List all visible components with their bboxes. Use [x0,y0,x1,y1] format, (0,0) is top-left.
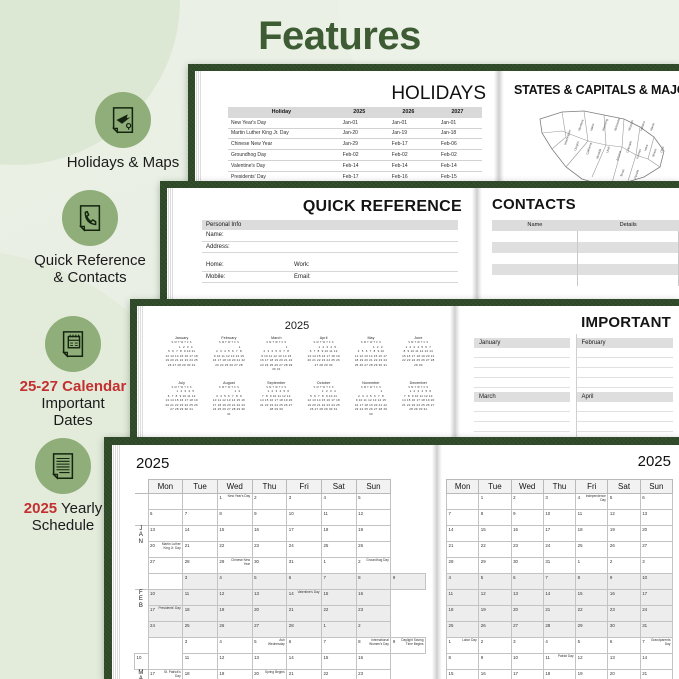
day-number: 6 [610,639,612,644]
schedule-day-cell[interactable]: 12 [576,654,608,670]
schedule-day-cell[interactable]: 18 [576,526,608,542]
important-dates-write-line[interactable] [577,358,674,368]
schedule-day-cell[interactable]: 19 [608,526,640,542]
important-dates-month-label: April [577,392,674,402]
day-number: 20 [150,543,155,548]
day-number: 10 [289,511,294,516]
schedule-day-cell[interactable]: 5 [608,494,640,510]
schedule-day-cell[interactable]: 15 [447,670,479,679]
schedule-day-cell[interactable]: 20 [640,526,672,542]
schedule-day-cell[interactable]: 4 [217,574,252,590]
schedule-day-cell[interactable]: 7 [321,574,356,590]
mini-month-calendar: OctoberS M T W T F S 1 2 3 45 6 7 8 9 10… [302,381,345,417]
schedule-day-cell[interactable]: 8 [479,510,511,526]
schedule-day-cell[interactable]: 31 [640,622,672,638]
mini-week-row: 12 13 14 15 16 17 18 [302,398,345,403]
mini-month-calendar: SeptemberS M T W T F S 1 2 3 4 5 67 8 9 … [255,381,298,417]
schedule-day-cell[interactable] [447,494,479,510]
schedule-day-cell[interactable]: 14Valentine's Day [287,590,322,606]
column-header: Holiday [228,107,335,118]
svg-text:Florida: Florida [633,169,640,179]
table-cell: Valentine's Day [228,160,335,171]
day-number: 22 [219,543,224,548]
schedule-day-cell[interactable]: 20Spring Begins [252,670,287,679]
important-dates-month-label: February [577,338,674,348]
day-number: 17 [150,671,155,676]
schedule-day-cell[interactable]: 9Daylight Saving Time Begins [391,638,426,654]
weekday-header: Wed [217,480,252,494]
schedule-day-cell[interactable]: 29 [479,558,511,574]
form-field-row[interactable]: Home:Work: [202,260,458,272]
day-number: 25 [323,543,328,548]
schedule-day-cell[interactable]: 10 [640,574,672,590]
table-cell[interactable] [492,253,578,264]
important-dates-write-line[interactable] [577,412,674,422]
schedule-day-cell[interactable]: 1New Year's Day [217,494,252,510]
schedule-day-cell[interactable]: 14 [543,590,575,606]
day-number: 24 [150,623,155,628]
mini-month-name: October [302,381,345,385]
schedule-week-row: 272829Chinese New Year303112Groundhog Da… [135,558,426,574]
schedule-day-cell[interactable]: 15 [321,654,356,670]
important-dates-write-line[interactable] [474,422,570,432]
column-header: Details [578,220,679,231]
schedule-week-row: 25262728293031 [447,622,673,638]
schedule-day-cell[interactable]: 10 [135,654,149,670]
schedule-day-cell[interactable]: 17St. Patrick's Day [148,670,183,679]
mini-month-calendar: NovemberS M T W T F S 12 3 4 5 6 7 89 10… [349,381,392,417]
important-dates-write-line[interactable] [577,422,674,432]
day-number: 14 [545,591,550,596]
schedule-day-cell[interactable]: 12 [608,510,640,526]
table-row[interactable] [492,242,679,253]
schedule-day-cell[interactable]: 25 [576,542,608,558]
table-row[interactable] [492,275,679,286]
important-dates-write-line[interactable] [474,348,570,358]
schedule-day-cell[interactable]: 26 [608,542,640,558]
schedule-day-cell[interactable]: 6 [608,638,640,654]
important-dates-write-line[interactable] [474,412,570,422]
schedule-day-cell[interactable]: 6 [511,574,543,590]
schedule-day-cell[interactable]: 13 [148,526,183,542]
svg-text:Montana: Montana [577,119,585,132]
form-field-row[interactable]: Address: [202,242,458,254]
table-row[interactable] [492,231,679,242]
schedule-day-cell[interactable]: 3 [543,494,575,510]
schedule-day-cell[interactable]: 17 [511,670,543,679]
schedule-day-cell[interactable]: 18 [447,606,479,622]
field-label: Name: [206,232,294,238]
schedule-day-cell[interactable]: 28 [183,558,218,574]
schedule-day-cell[interactable]: 10 [543,510,575,526]
table-cell[interactable] [578,264,679,275]
schedule-day-cell[interactable]: 17 [543,526,575,542]
field-label: Home: [206,262,294,268]
schedule-day-cell[interactable]: 19 [217,606,252,622]
schedule-day-cell[interactable]: 4 [447,574,479,590]
contacts-table: NameDetails [492,220,679,286]
schedule-day-cell[interactable]: 17 [287,526,322,542]
column-header: 2025 [335,107,384,118]
schedule-day-cell[interactable]: 13 [640,510,672,526]
schedule-day-cell[interactable]: 2 [252,494,287,510]
schedule-day-cell[interactable]: 27 [148,558,183,574]
day-event-label: Patriot Day [552,655,573,659]
schedule-day-cell[interactable]: 9 [511,510,543,526]
day-number: 2 [610,559,612,564]
important-dates-write-line[interactable] [474,378,570,388]
schedule-day-cell[interactable]: 8 [356,574,391,590]
day-event-label: Daylight Saving Time Begins [401,639,424,646]
schedule-day-cell[interactable]: 3 [287,494,322,510]
day-number: 27 [254,623,259,628]
page-heading-quick-reference: QUICK REFERENCE [303,198,462,216]
schedule-day-cell[interactable]: 5 [576,638,608,654]
table-cell: Jan-18 [433,128,482,139]
important-dates-write-line[interactable] [577,378,674,388]
schedule-day-cell[interactable]: 27 [640,542,672,558]
schedule-day-cell[interactable]: 14 [640,654,672,670]
table-row[interactable] [492,253,679,264]
table-cell[interactable] [492,242,578,253]
schedule-day-cell[interactable]: 27 [252,622,287,638]
schedule-week-row: MAR17St. Patrick's Day181920Spring Begin… [135,670,426,679]
schedule-day-cell[interactable]: 20Martin Luther King Jr. Day [148,542,183,558]
schedule-day-cell[interactable] [148,494,183,510]
schedule-day-cell[interactable]: 16 [511,526,543,542]
schedule-day-cell[interactable]: 28 [447,558,479,574]
schedule-day-cell[interactable]: 19 [479,606,511,622]
schedule-day-cell[interactable]: 11Patriot Day [543,654,575,670]
schedule-day-cell[interactable]: 6 [640,494,672,510]
schedule-day-cell[interactable]: 3 [183,638,218,654]
schedule-day-cell[interactable]: 10 [287,510,322,526]
schedule-day-cell[interactable]: 23 [252,542,287,558]
day-number: 9 [393,575,395,580]
schedule-day-cell[interactable]: 11 [321,510,356,526]
important-dates-write-line[interactable] [577,402,674,412]
table-cell: Feb-02 [335,150,384,161]
schedule-day-cell[interactable]: 20 [511,606,543,622]
schedule-day-cell[interactable]: 7 [543,574,575,590]
schedule-day-cell[interactable]: 22 [479,542,511,558]
mini-week-row: 13 14 15 16 17 18 19 [160,398,203,403]
schedule-day-cell[interactable]: 23 [356,606,391,622]
schedule-day-cell[interactable]: 4Independence Day [576,494,608,510]
schedule-day-cell[interactable]: 13 [608,654,640,670]
day-number: 20 [610,671,615,676]
schedule-day-cell[interactable]: 13 [252,654,287,670]
day-number: 13 [254,655,259,660]
schedule-day-cell[interactable]: 28 [543,622,575,638]
day-number: 23 [358,607,363,612]
schedule-day-cell[interactable]: 10 [148,590,183,606]
schedule-day-cell[interactable]: 5 [479,574,511,590]
day-number: 10 [642,575,647,580]
day-number: 4 [219,575,221,580]
schedule-day-cell[interactable]: 5 [252,574,287,590]
schedule-day-cell[interactable]: 15 [217,526,252,542]
schedule-day-cell[interactable]: 2 [608,558,640,574]
mini-week-row: 19 20 21 22 23 24 25 [160,358,203,363]
schedule-day-cell[interactable]: 5Ash Wednesday [252,638,287,654]
mini-week-row: 26 27 28 29 30 31 [302,407,345,412]
schedule-day-cell[interactable]: 14 [183,526,218,542]
schedule-day-cell[interactable]: 7Grandparents Day [640,638,672,654]
schedule-day-cell[interactable]: 1 [321,622,356,638]
schedule-day-cell[interactable]: 19 [576,670,608,679]
day-number: 6 [289,639,291,644]
schedule-day-cell[interactable]: 2 [511,494,543,510]
important-dates-column: JanuaryMarch [474,334,577,437]
day-number: 27 [513,623,518,628]
schedule-day-cell[interactable]: 17Presidents' Day [148,606,183,622]
table-header-row: Holiday202520262027 [228,107,482,118]
schedule-day-cell[interactable]: 31 [543,558,575,574]
schedule-day-cell[interactable]: 26 [356,542,391,558]
schedule-day-cell[interactable]: 29Chinese New Year [217,558,252,574]
day-number: 4 [449,575,451,580]
schedule-day-cell[interactable]: 16 [252,526,287,542]
table-row: Chinese New YearJan-29Feb-17Feb-06 [228,139,482,150]
day-number: 29 [219,559,224,564]
schedule-day-cell[interactable]: 30 [608,622,640,638]
important-dates-write-line[interactable] [474,358,570,368]
schedule-day-cell[interactable]: 21 [183,542,218,558]
schedule-day-cell[interactable]: 3 [511,638,543,654]
feature-label: 2025 Yearly Schedule [0,501,148,535]
weekday-header: Mon [447,480,479,494]
schedule-day-cell[interactable]: 12 [217,654,252,670]
schedule-day-cell[interactable]: 15 [576,590,608,606]
schedule-day-cell[interactable]: 26 [479,622,511,638]
schedule-day-cell[interactable]: 13 [511,590,543,606]
schedule-day-cell[interactable]: 7 [447,510,479,526]
day-number: 23 [358,671,363,676]
important-dates-write-line[interactable] [474,402,570,412]
schedule-day-cell[interactable]: 4 [543,638,575,654]
mini-month-calendar: FebruaryS M T W T F S 12 3 4 5 6 7 89 10… [207,336,250,372]
schedule-day-cell[interactable]: 14 [287,654,322,670]
schedule-day-cell[interactable]: 16 [356,590,391,606]
schedule-day-cell[interactable]: 16 [608,590,640,606]
schedule-day-cell[interactable]: 11 [183,590,218,606]
day-number: 15 [578,591,583,596]
schedule-day-cell[interactable]: 21 [447,542,479,558]
mini-week-row: 24 25 26 27 28 29 30 [207,407,250,412]
schedule-day-cell[interactable]: 30 [252,558,287,574]
important-dates-write-line[interactable] [577,368,674,378]
schedule-day-cell[interactable]: 14 [447,526,479,542]
schedule-day-cell[interactable]: 21 [543,606,575,622]
day-number: 9 [513,511,515,516]
schedule-day-cell[interactable]: 17 [640,590,672,606]
weekday-header: Mon [148,480,183,494]
schedule-day-cell[interactable]: 6 [287,574,322,590]
schedule-day-cell[interactable]: 22 [576,606,608,622]
day-number: 11 [449,591,454,596]
schedule-day-cell[interactable]: 1Labor Day [447,638,479,654]
schedule-day-cell[interactable]: 16 [356,654,391,670]
us-map-outline-icon: Washington Oregon California Nevada Utah… [532,97,679,182]
schedule-day-cell[interactable]: 18 [543,670,575,679]
day-number: 19 [219,671,224,676]
svg-text:Illinois: Illinois [651,148,658,158]
schedule-day-cell[interactable]: 21 [287,670,322,679]
table-header-row: MonTueWedThuFriSatSun [135,480,426,494]
schedule-day-cell[interactable]: 21 [287,606,322,622]
table-cell[interactable] [578,253,679,264]
day-number: 28 [449,559,454,564]
schedule-day-cell[interactable]: 3 [640,558,672,574]
day-number: 18 [185,671,190,676]
schedule-day-cell[interactable]: 1 [479,494,511,510]
schedule-day-cell[interactable]: 20 [608,670,640,679]
schedule-day-cell[interactable]: 23 [608,606,640,622]
form-field-row[interactable]: Name: [202,230,458,242]
schedule-day-cell[interactable]: 11 [183,654,218,670]
day-number: 7 [449,511,451,516]
year-heading-right: 2025 [638,453,671,470]
schedule-day-cell[interactable]: 12 [217,590,252,606]
schedule-day-cell[interactable]: 24 [543,542,575,558]
schedule-day-cell[interactable]: 8International Women's Day [356,638,391,654]
schedule-day-cell[interactable]: 9 [608,574,640,590]
schedule-day-cell[interactable]: 4 [321,494,356,510]
schedule-day-cell[interactable]: 1 [321,558,356,574]
schedule-day-cell[interactable]: 28 [287,622,322,638]
field-label: Email: [294,274,311,280]
schedule-day-cell[interactable]: 19 [217,670,252,679]
form-field-row[interactable]: Mobile:Email: [202,272,458,284]
schedule-day-cell[interactable]: 18 [321,526,356,542]
day-number: 19 [610,527,615,532]
schedule-day-cell[interactable]: 10 [511,654,543,670]
schedule-day-cell[interactable]: 25 [321,542,356,558]
mini-week-row: 30 31 [255,367,298,372]
important-dates-write-line[interactable] [474,368,570,378]
schedule-day-cell[interactable]: 5 [356,494,391,510]
schedule-day-cell[interactable]: 1 [576,558,608,574]
important-dates-grid: JanuaryMarchFebruaryApril [474,334,679,433]
schedule-day-cell[interactable]: 22 [217,542,252,558]
day-number: 4 [323,495,325,500]
important-dates-column: FebruaryApril [577,334,679,437]
table-cell[interactable] [492,275,578,286]
notepad-document-icon [45,316,101,372]
schedule-day-cell[interactable]: 24 [287,542,322,558]
table-cell: Feb-14 [433,160,482,171]
day-number: 31 [545,559,550,564]
schedule-day-cell[interactable]: 11 [447,590,479,606]
schedule-day-cell[interactable]: 18 [183,670,218,679]
schedule-day-cell[interactable]: 12 [356,510,391,526]
table-cell[interactable] [578,242,679,253]
schedule-week-row: 28293031123 [447,558,673,574]
day-number: 29 [578,623,583,628]
day-number: 5 [254,639,256,644]
day-event-label: St. Patrick's Day [158,671,181,678]
schedule-day-cell[interactable]: 25 [183,622,218,638]
schedule-day-cell[interactable]: 23 [511,542,543,558]
schedule-day-cell[interactable]: 21 [640,670,672,679]
schedule-week-row: 15161718192021 [447,670,673,679]
schedule-day-cell[interactable]: 15 [479,526,511,542]
mini-month-name: April [302,336,345,340]
schedule-day-cell[interactable]: 24 [148,622,183,638]
schedule-day-cell[interactable]: 26 [217,622,252,638]
quick-reference-form: Personal Info Name:Address:Home:Work:Mob… [202,220,458,283]
schedule-day-cell[interactable]: 24 [640,606,672,622]
mini-month-name: November [349,381,392,385]
table-cell[interactable] [492,231,578,242]
important-dates-write-line[interactable] [577,348,674,358]
month-label: MAR [135,670,149,679]
day-number: 9 [254,511,256,516]
schedule-day-cell[interactable]: 11 [576,510,608,526]
schedule-day-cell[interactable]: 2 [479,638,511,654]
schedule-day-cell[interactable]: 8 [576,574,608,590]
schedule-day-cell[interactable]: 29 [576,622,608,638]
schedule-day-cell[interactable]: 16 [479,670,511,679]
schedule-day-cell[interactable]: 31 [287,558,322,574]
schedule-day-cell[interactable]: 4 [217,638,252,654]
schedule-day-cell[interactable]: 19 [356,526,391,542]
day-number: 1 [219,495,221,500]
schedule-day-cell[interactable]: 13 [252,590,287,606]
schedule-day-cell[interactable]: 12 [479,590,511,606]
schedule-day-cell[interactable]: 23 [356,670,391,679]
schedule-day-cell[interactable]: 7 [183,510,218,526]
schedule-day-cell[interactable]: 30 [511,558,543,574]
table-row[interactable] [492,264,679,275]
schedule-day-cell[interactable] [183,494,218,510]
schedule-day-cell[interactable]: 3 [183,574,218,590]
schedule-day-cell[interactable]: 22 [321,670,356,679]
schedule-day-cell[interactable]: 7 [321,638,356,654]
schedule-day-cell[interactable]: 2 [356,622,391,638]
mini-month-name: June [397,336,440,340]
schedule-day-cell[interactable]: 20 [252,606,287,622]
schedule-day-cell[interactable]: 9 [479,654,511,670]
book-pages: QUICK REFERENCE Personal Info Name:Addre… [167,188,679,299]
day-number: 28 [185,559,190,564]
table-cell[interactable] [492,264,578,275]
schedule-day-cell[interactable]: 15 [321,590,356,606]
mini-month-calendar: DecemberS M T W T F S 1 2 3 4 5 67 8 9 1… [397,381,440,417]
schedule-day-cell[interactable]: 6 [148,510,183,526]
svg-text:Nebraska: Nebraska [613,118,621,132]
schedule-day-cell[interactable]: 8 [217,510,252,526]
feature-label: Quick Reference & Contacts [5,253,175,287]
field-label: Mobile: [206,274,294,280]
schedule-day-cell[interactable]: 2Groundhog Day [356,558,391,574]
schedule-day-cell[interactable]: 18 [183,606,218,622]
day-number: 18 [545,671,550,676]
schedule-day-cell[interactable]: 22 [321,606,356,622]
table-cell[interactable] [578,231,679,242]
schedule-day-cell[interactable]: 8 [447,654,479,670]
feature-item-calendar-important-dates: 25-27 Calendar Important Dates [0,316,158,429]
schedule-day-cell[interactable]: 6 [287,638,322,654]
schedule-day-cell[interactable]: 9 [252,510,287,526]
schedule-day-cell[interactable]: 25 [447,622,479,638]
table-cell[interactable] [578,275,679,286]
schedule-day-cell[interactable]: 27 [511,622,543,638]
schedule-day-cell[interactable]: 9 [391,574,426,590]
feature-label: 25-27 Calendar Important Dates [0,379,158,429]
day-number: 22 [578,607,583,612]
